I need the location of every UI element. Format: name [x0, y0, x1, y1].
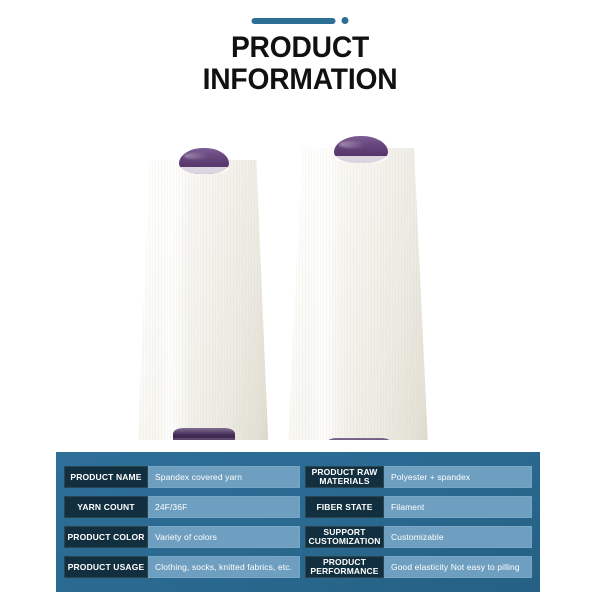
title-decoration [252, 17, 349, 24]
spec-value: Filament [384, 496, 532, 518]
page-title-line1: PRODUCT [231, 31, 369, 64]
yarn-cone-left [138, 160, 268, 440]
spec-value: 24F/36F [148, 496, 300, 518]
spec-value: Polyester + spandex [384, 466, 532, 488]
page-title: PRODUCT INFORMATION [18, 32, 582, 96]
cone-cap-left [179, 148, 229, 174]
page-title-line2: INFORMATION [18, 64, 582, 96]
cone-base-left [173, 428, 235, 440]
table-row: PRODUCT USAGE Clothing, socks, knitted f… [64, 556, 300, 578]
decoration-dot-icon [342, 17, 349, 24]
product-photo [0, 100, 600, 440]
spec-label: YARN COUNT [64, 496, 148, 518]
table-row: FIBER STATE Filament [305, 496, 532, 518]
yarn-body-left [138, 160, 268, 440]
yarn-highlight-right [305, 148, 344, 440]
table-row: YARN COUNT 24F/36F [64, 496, 300, 518]
spec-label: PRODUCT USAGE [64, 556, 148, 578]
spec-value: Spandex covered yarn [148, 466, 300, 488]
yarn-body-right [288, 148, 428, 440]
spec-value: Variety of colors [148, 526, 300, 548]
table-row: SUPPORT CUSTOMIZATION Customizable [305, 526, 532, 548]
table-row: PRODUCT PERFORMANCE Good elasticity Not … [305, 556, 532, 578]
cone-base-top-right [326, 438, 392, 440]
table-row: PRODUCT RAW MATERIALS Polyester + spande… [305, 466, 532, 488]
cone-base-top-left [173, 428, 235, 435]
table-row: PRODUCT COLOR Variety of colors [64, 526, 300, 548]
cone-base-right [326, 438, 392, 440]
cone-cap-right [334, 136, 388, 163]
spec-value: Good elasticity Not easy to pilling [384, 556, 532, 578]
table-row: PRODUCT NAME Spandex covered yarn [64, 466, 300, 488]
spec-value: Clothing, socks, knitted fabrics, etc. [148, 556, 300, 578]
spec-label: PRODUCT COLOR [64, 526, 148, 548]
yarn-highlight-left [154, 160, 190, 440]
product-information-page: PRODUCT INFORMATION [0, 0, 600, 600]
spec-label: FIBER STATE [305, 496, 384, 518]
decoration-bar-icon [252, 18, 336, 24]
spec-label: PRODUCT PERFORMANCE [305, 556, 384, 578]
spec-value: Customizable [384, 526, 532, 548]
yarn-cone-right [288, 148, 428, 440]
spec-label: SUPPORT CUSTOMIZATION [305, 526, 384, 548]
spec-label: PRODUCT NAME [64, 466, 148, 488]
specification-grid: PRODUCT NAME Spandex covered yarn YARN C… [56, 452, 540, 592]
spec-label: PRODUCT RAW MATERIALS [305, 466, 384, 488]
page-header: PRODUCT INFORMATION [0, 0, 600, 100]
specification-panel: PRODUCT NAME Spandex covered yarn YARN C… [56, 452, 540, 592]
